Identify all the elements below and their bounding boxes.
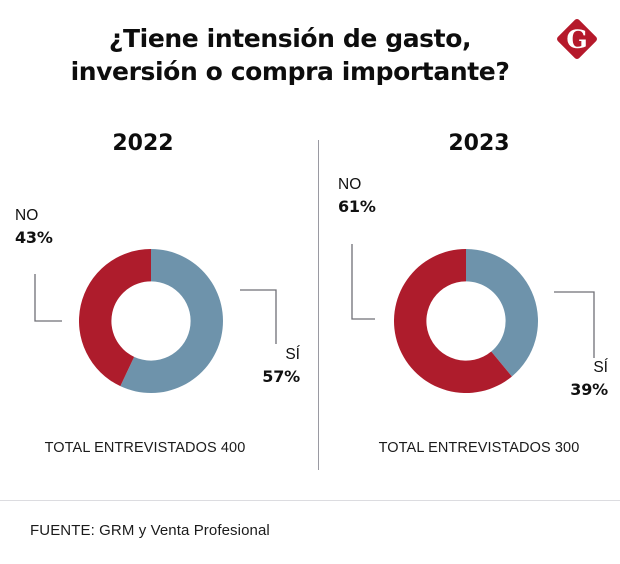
- donut-chart-2023: [394, 249, 538, 393]
- leader-line-no-2022: [30, 270, 70, 326]
- donut-chart-2022: [79, 249, 223, 393]
- chart-year-2023: 2023: [324, 131, 620, 156]
- horizontal-divider: [0, 500, 620, 501]
- source-text: FUENTE: GRM y Venta Profesional: [30, 522, 270, 539]
- callout-si-value-2023: 39%: [552, 379, 608, 402]
- page-title-line-1: ¿Tiene intensión de gasto,: [109, 24, 471, 53]
- page-title: ¿Tiene intensión de gasto, inversión o c…: [20, 22, 560, 88]
- callout-no-label-2022: NO: [15, 205, 53, 227]
- callout-no-value-2023: 61%: [338, 196, 376, 219]
- infographic-page: ¿Tiene intensión de gasto, inversión o c…: [0, 0, 620, 564]
- donut-slice-si-2023: [466, 249, 538, 376]
- callout-si-2023: SÍ 39%: [552, 357, 608, 402]
- chart-year-2022: 2022: [0, 131, 298, 156]
- callout-no-2022: NO 43%: [15, 205, 53, 250]
- leader-line-si-2022: [238, 286, 286, 348]
- callout-no-value-2022: 43%: [15, 227, 53, 250]
- callout-si-2022: SÍ 57%: [238, 344, 300, 389]
- callout-no-label-2023: NO: [338, 174, 376, 196]
- leader-line-no-2023: [347, 240, 387, 324]
- total-respondents-2022: TOTAL ENTREVISTADOS 400: [0, 440, 300, 456]
- callout-no-2023: NO 61%: [338, 174, 376, 219]
- page-title-line-2: inversión o compra importante?: [20, 55, 560, 88]
- gestion-logo-icon: G: [556, 18, 598, 60]
- total-respondents-2023: TOTAL ENTREVISTADOS 300: [324, 440, 620, 456]
- leader-line-si-2023: [552, 288, 600, 362]
- callout-si-value-2022: 57%: [238, 366, 300, 389]
- logo-letter: G: [556, 18, 598, 60]
